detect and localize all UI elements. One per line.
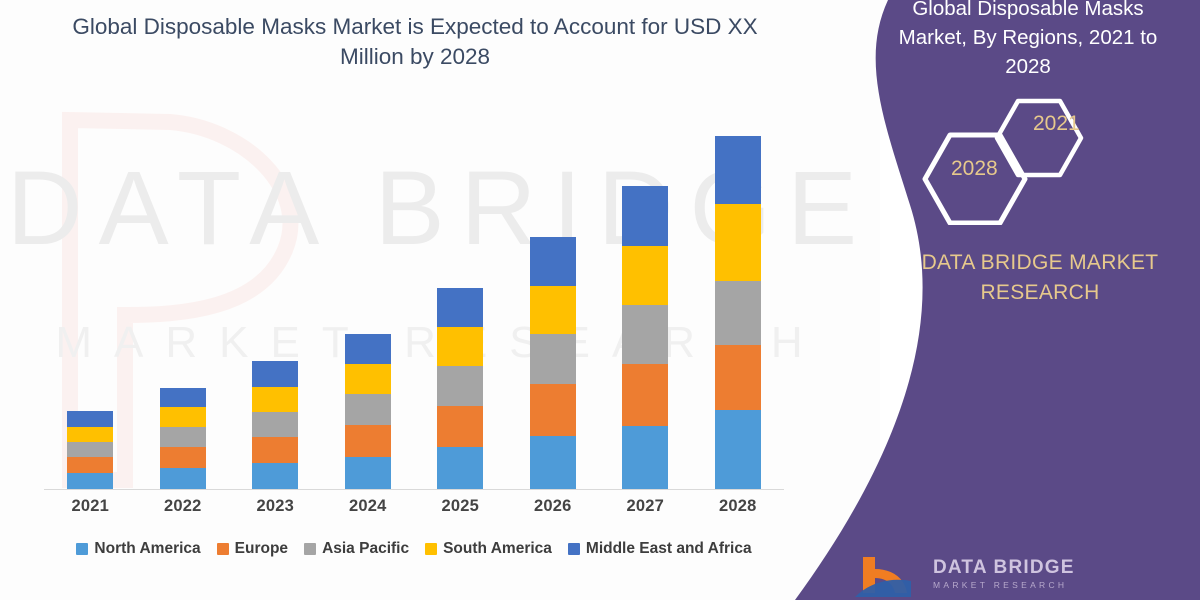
legend-item-europe[interactable]: Europe (217, 540, 288, 558)
bar-segment-asia-pacific (530, 334, 576, 384)
bar-segment-north-america (437, 447, 483, 489)
stacked-bar (530, 237, 576, 489)
bar-segment-asia-pacific (252, 412, 298, 437)
bar-segment-europe (715, 345, 761, 410)
company-logo: DATA BRIDGE MARKET RESEARCH (855, 553, 1185, 599)
bar-segment-europe (437, 406, 483, 447)
legend-swatch-icon (217, 543, 229, 555)
bar-segment-north-america (715, 410, 761, 489)
legend-label: Asia Pacific (322, 540, 409, 558)
legend-item-south-america[interactable]: South America (425, 540, 552, 558)
bar-segment-asia-pacific (345, 394, 391, 425)
bar-segment-middle-east-and-africa (530, 237, 576, 286)
bar-segment-middle-east-and-africa (252, 361, 298, 387)
bar-segment-middle-east-and-africa (715, 136, 761, 204)
stacked-bar (437, 288, 483, 489)
legend-label: North America (94, 540, 200, 558)
bar-group (44, 100, 784, 489)
bar-segment-north-america (252, 463, 298, 489)
legend-item-asia-pacific[interactable]: Asia Pacific (304, 540, 409, 558)
bar-segment-south-america (252, 387, 298, 412)
legend-item-north-america[interactable]: North America (76, 540, 200, 558)
bar-segment-south-america (437, 327, 483, 366)
bar-segment-middle-east-and-africa (622, 186, 668, 246)
bar-column-2023 (229, 100, 322, 489)
bar-segment-north-america (622, 426, 668, 489)
legend-label: Middle East and Africa (586, 540, 752, 558)
x-axis-label-2026: 2026 (507, 497, 600, 516)
logo-subtext: MARKET RESEARCH (933, 580, 1067, 590)
screenshot-root: DATA BRIDGE MARKET RESEARCH Global Dispo… (0, 0, 1200, 600)
bar-segment-asia-pacific (67, 442, 113, 457)
bar-segment-north-america (530, 436, 576, 489)
x-axis-label-2027: 2027 (599, 497, 692, 516)
panel-title: Global Disposable Masks Market, By Regio… (878, 0, 1178, 81)
legend-swatch-icon (425, 543, 437, 555)
x-axis-label-2024: 2024 (322, 497, 415, 516)
bar-segment-europe (252, 437, 298, 463)
chart-panel: DATA BRIDGE MARKET RESEARCH Global Dispo… (0, 0, 880, 600)
brand-panel: Global Disposable Masks Market, By Regio… (760, 0, 1200, 600)
logo-text: DATA BRIDGE (933, 557, 1075, 579)
hexagon-label-2021: 2021 (1033, 112, 1080, 136)
bar-segment-asia-pacific (715, 281, 761, 346)
bar-segment-north-america (160, 468, 206, 489)
legend-swatch-icon (568, 543, 580, 555)
bar-segment-middle-east-and-africa (437, 288, 483, 328)
stacked-bar (715, 136, 761, 489)
x-axis-line (44, 489, 784, 490)
chart-title: Global Disposable Masks Market is Expect… (70, 12, 760, 72)
bar-segment-asia-pacific (160, 427, 206, 447)
bar-segment-south-america (67, 427, 113, 442)
bar-segment-europe (67, 457, 113, 473)
bar-segment-middle-east-and-africa (67, 411, 113, 427)
legend-label: Europe (235, 540, 288, 558)
x-axis-label-2023: 2023 (229, 497, 322, 516)
bar-segment-europe (345, 425, 391, 457)
bar-segment-asia-pacific (437, 366, 483, 406)
legend-swatch-icon (76, 543, 88, 555)
stacked-bar (622, 186, 668, 489)
bar-segment-south-america (715, 204, 761, 281)
bar-column-2021 (44, 100, 137, 489)
bar-segment-europe (160, 447, 206, 468)
stacked-bar (67, 411, 113, 489)
bar-column-2026 (507, 100, 600, 489)
bar-column-2025 (414, 100, 507, 489)
brand-name: DATA BRIDGE MARKET RESEARCH (895, 248, 1185, 309)
plot-area (44, 100, 784, 490)
chart-legend: North AmericaEuropeAsia PacificSouth Ame… (44, 540, 784, 558)
bar-segment-north-america (67, 473, 113, 489)
hexagon-label-2028: 2028 (951, 157, 998, 181)
bar-segment-asia-pacific (622, 305, 668, 365)
bar-column-2027 (599, 100, 692, 489)
legend-swatch-icon (304, 543, 316, 555)
bar-segment-south-america (530, 286, 576, 335)
x-axis-label-2025: 2025 (414, 497, 507, 516)
legend-item-middle-east-and-africa[interactable]: Middle East and Africa (568, 540, 752, 558)
bar-segment-europe (622, 364, 668, 426)
bar-segment-south-america (622, 246, 668, 305)
bar-column-2022 (137, 100, 230, 489)
bar-segment-south-america (160, 407, 206, 427)
legend-label: South America (443, 540, 552, 558)
stacked-bar (252, 361, 298, 489)
x-axis-label-2021: 2021 (44, 497, 137, 516)
stacked-bar (160, 388, 206, 489)
bridge-logo-icon (855, 553, 925, 597)
hexagon-group: 2028 2021 (920, 95, 1180, 225)
bar-segment-middle-east-and-africa (160, 388, 206, 407)
bar-segment-south-america (345, 364, 391, 394)
x-axis-labels: 20212022202320242025202620272028 (44, 497, 784, 516)
bar-segment-middle-east-and-africa (345, 334, 391, 364)
bar-column-2024 (322, 100, 415, 489)
bar-segment-europe (530, 384, 576, 436)
stacked-bar (345, 334, 391, 489)
bar-segment-north-america (345, 457, 391, 489)
x-axis-label-2022: 2022 (137, 497, 230, 516)
